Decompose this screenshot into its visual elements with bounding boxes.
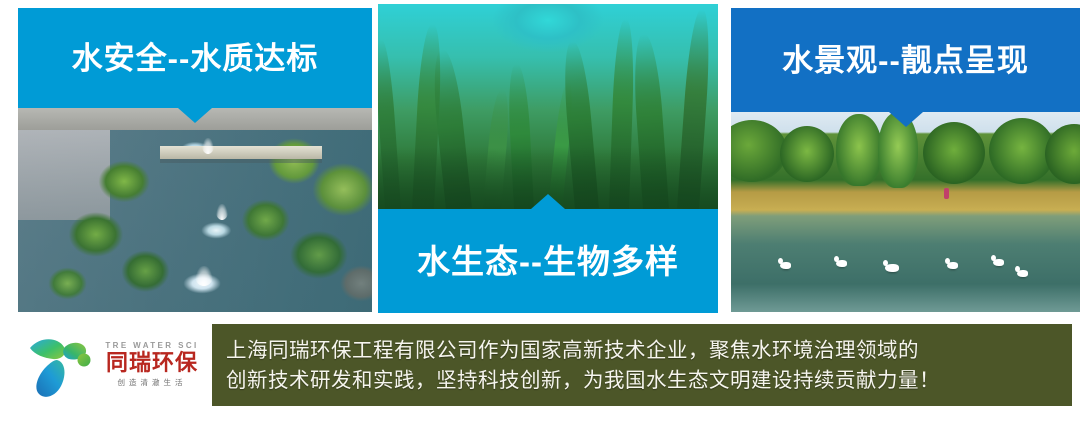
- duck: [836, 260, 847, 267]
- statement-line-1: 上海同瑞环保工程有限公司作为国家高新技术企业，聚焦水环境治理领域的: [226, 335, 1058, 365]
- tree: [780, 126, 834, 182]
- tongrui-three-lobe-mark-icon: [24, 330, 96, 402]
- panel-water-landscape-label: 水景观--靓点呈现: [782, 45, 1029, 76]
- panel-water-ecology[interactable]: 水生态--生物多样: [378, 4, 718, 313]
- panel-water-safety-banner: 水安全--水质达标: [18, 8, 372, 108]
- fountain-spray: [202, 138, 214, 154]
- tree: [1045, 124, 1080, 184]
- duck: [1017, 270, 1028, 277]
- duck: [993, 259, 1004, 266]
- footer-strip: TRE WATER SCI 同瑞环保 创造清澈生活 上海同瑞环保工程有限公司作为…: [0, 318, 1087, 422]
- panel-water-ecology-photo: [378, 4, 718, 209]
- logo-wordmark: TRE WATER SCI 同瑞环保 创造清澈生活: [96, 342, 208, 386]
- statement-line-2: 创新技术研发和实践，坚持科技创新，为我国水生态文明建设持续贡献力量！: [226, 365, 1058, 395]
- logo-slogan: 创造清澈生活: [96, 379, 208, 387]
- willow-tree: [836, 114, 882, 186]
- logo-chinese-name: 同瑞环保: [96, 352, 208, 376]
- panel-water-landscape-banner: 水景观--靓点呈现: [731, 8, 1080, 112]
- panel-water-landscape-photo: [731, 112, 1080, 312]
- panel-water-safety-notch: [178, 108, 212, 123]
- company-statement-box: 上海同瑞环保工程有限公司作为国家高新技术企业，聚焦水环境治理领域的 创新技术研发…: [212, 324, 1072, 406]
- person-at-shore: [944, 188, 949, 199]
- duck: [885, 264, 899, 272]
- aerial-river-park-image: [18, 108, 372, 312]
- panel-water-safety-photo: [18, 108, 372, 312]
- panel-water-ecology-notch: [531, 194, 565, 209]
- panel-water-safety-label: 水安全--水质达标: [72, 43, 319, 74]
- company-logo[interactable]: TRE WATER SCI 同瑞环保 创造清澈生活: [18, 326, 208, 408]
- panel-water-landscape-notch: [889, 112, 923, 127]
- panel-water-safety[interactable]: 水安全--水质达标: [18, 8, 372, 312]
- duck: [947, 262, 958, 269]
- panel-water-ecology-banner: 水生态--生物多样: [378, 209, 718, 313]
- bridge: [160, 146, 323, 159]
- logo-english-name: TRE WATER SCI: [96, 342, 208, 350]
- tree: [731, 120, 787, 182]
- panel-water-ecology-label: 水生态--生物多样: [417, 245, 679, 278]
- poster-canvas: 水安全--水质达标: [0, 0, 1087, 422]
- underwater-aquatic-plants-image: [378, 4, 718, 209]
- fountain-spray: [216, 204, 228, 220]
- fountain-spray: [195, 266, 213, 286]
- duck: [780, 262, 791, 269]
- tree: [923, 122, 985, 184]
- lakeside-ducks-image: [731, 112, 1080, 312]
- panel-water-landscape[interactable]: 水景观--靓点呈现: [731, 8, 1080, 312]
